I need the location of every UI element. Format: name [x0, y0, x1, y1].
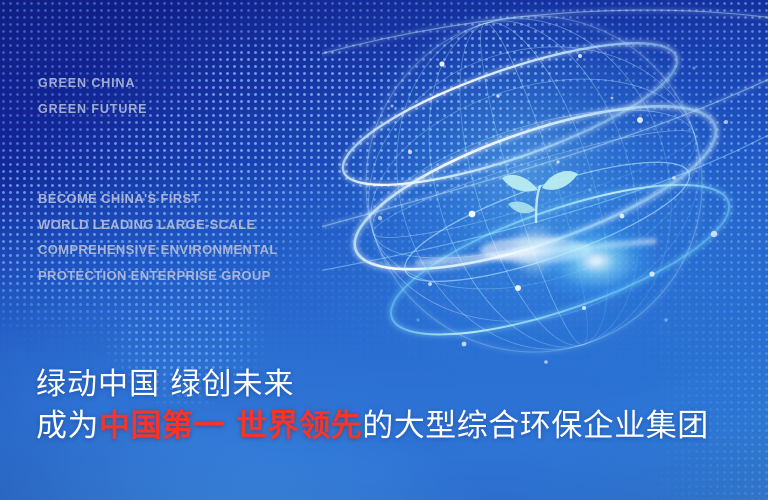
headline-accent: 中国第一 世界领先 [99, 408, 362, 444]
headline-suffix: 的大型综合环保企业集团 [362, 408, 709, 444]
mission-line-1: BECOME CHINA'S FIRST [38, 186, 278, 212]
mission-line-3: COMPREHENSIVE ENVIRONMENTAL [38, 237, 278, 263]
headline-prefix: 成为 [36, 408, 99, 444]
headline-line-1: 绿动中国 绿创未来 [36, 366, 709, 404]
mission-line-2: WORLD LEADING LARGE-SCALE [38, 212, 278, 238]
tagline-block: GREEN CHINA GREEN FUTURE [38, 70, 147, 122]
tagline-line-2: GREEN FUTURE [38, 96, 147, 122]
tagline-line-1: GREEN CHINA [38, 70, 147, 96]
mission-line-4: PROTECTION ENTERPRISE GROUP [38, 263, 278, 289]
mission-statement-block: BECOME CHINA'S FIRST WORLD LEADING LARGE… [38, 186, 278, 288]
headline-line-2: 成为中国第一 世界领先的大型综合环保企业集团 [36, 406, 709, 446]
hero-banner: GREEN CHINA GREEN FUTURE BECOME CHINA'S … [0, 0, 768, 500]
headline-block: 绿动中国 绿创未来 成为中国第一 世界领先的大型综合环保企业集团 [36, 366, 709, 446]
